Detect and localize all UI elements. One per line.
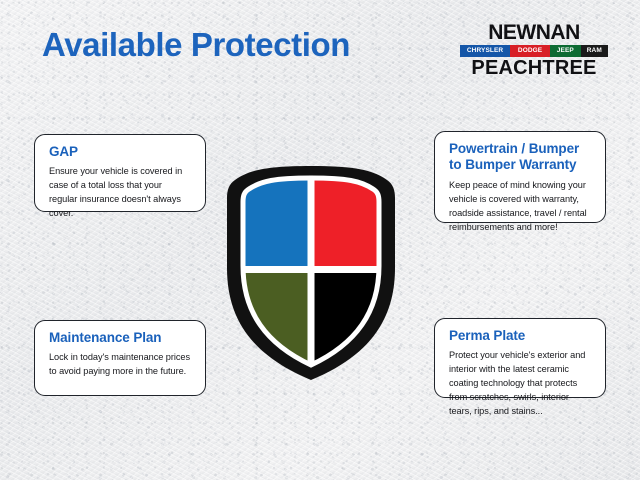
card-gap-body: Ensure your vehicle is covered in case o…: [49, 165, 192, 221]
brand-chip-chrysler: CHRYSLER: [460, 45, 510, 57]
protection-slide: Available Protection NEWNAN CHRYSLER DOD…: [0, 0, 640, 480]
brand-chip-dodge: DODGE: [510, 45, 550, 57]
logo-brand-bar: CHRYSLER DODGE JEEP RAM: [460, 45, 608, 57]
page-title: Available Protection: [42, 26, 350, 64]
card-permaplate-body: Protect your vehicle's exterior and inte…: [449, 349, 592, 419]
card-perma-plate: Perma Plate Protect your vehicle's exter…: [434, 318, 606, 398]
card-powertrain-warranty: Powertrain / Bumper to Bumper Warranty K…: [434, 131, 606, 223]
card-maintenance-title: Maintenance Plan: [49, 330, 192, 346]
card-gap: GAP Ensure your vehicle is covered in ca…: [34, 134, 206, 212]
card-permaplate-title: Perma Plate: [449, 328, 592, 344]
card-powertrain-title: Powertrain / Bumper to Bumper Warranty: [449, 141, 592, 174]
card-maintenance-body: Lock in today's maintenance prices to av…: [49, 351, 192, 379]
protection-shield-graphic: [219, 160, 403, 386]
card-powertrain-body: Keep peace of mind knowing your vehicle …: [449, 179, 592, 235]
card-maintenance-plan: Maintenance Plan Lock in today's mainten…: [34, 320, 206, 396]
brand-chip-ram: RAM: [581, 45, 608, 57]
brand-chip-jeep: JEEP: [550, 45, 581, 57]
logo-peachtree-text: PEACHTREE: [460, 58, 608, 78]
logo-newnan-text: NEWNAN: [460, 22, 608, 43]
card-gap-title: GAP: [49, 144, 192, 160]
dealer-logo: NEWNAN CHRYSLER DODGE JEEP RAM PEACHTREE: [460, 22, 608, 78]
